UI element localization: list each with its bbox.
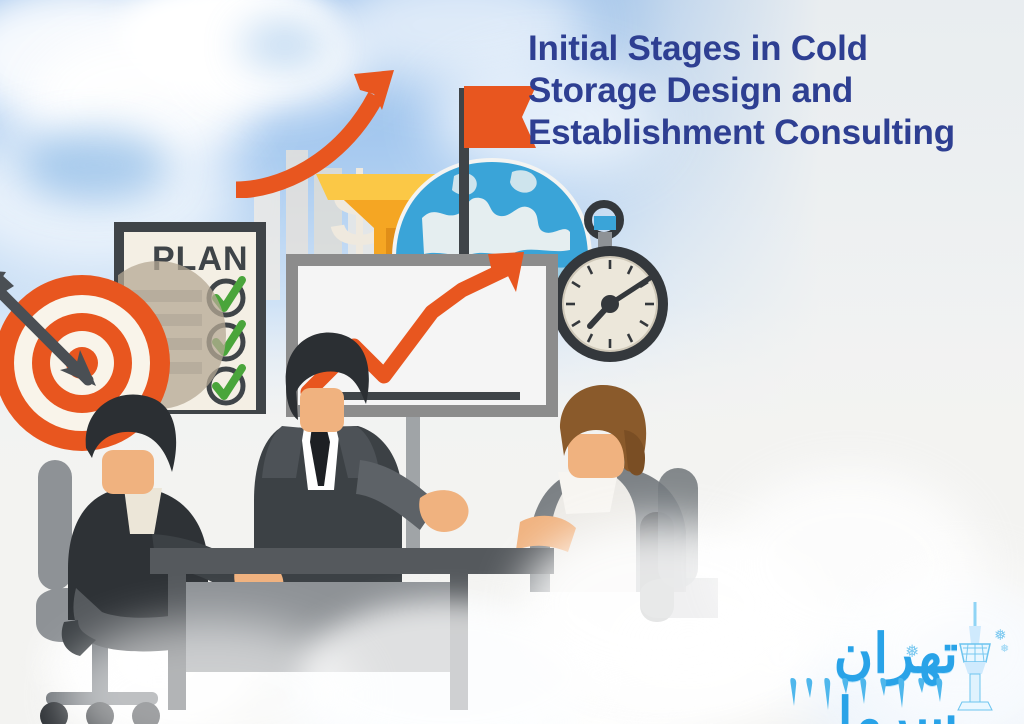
brand-name: تهران سرما	[786, 622, 958, 686]
icicle-drip-icon	[786, 678, 966, 712]
svg-text:❅: ❅	[994, 627, 1007, 644]
stopwatch-icon	[556, 198, 676, 378]
banner-canvas: S	[0, 0, 1024, 724]
brand-logo[interactable]: ❅ ❅ ❅ تهران سرما	[786, 600, 1014, 712]
headline-line-1: Initial Stages in Cold	[528, 28, 1018, 70]
headline-line-2: Storage Design and	[528, 70, 1018, 112]
svg-text:❅: ❅	[1000, 643, 1009, 655]
flag-icon	[450, 78, 540, 258]
page-title: Initial Stages in Cold Storage Design an…	[528, 28, 1018, 154]
headline-line-3: Establishment Consulting	[528, 112, 1018, 154]
